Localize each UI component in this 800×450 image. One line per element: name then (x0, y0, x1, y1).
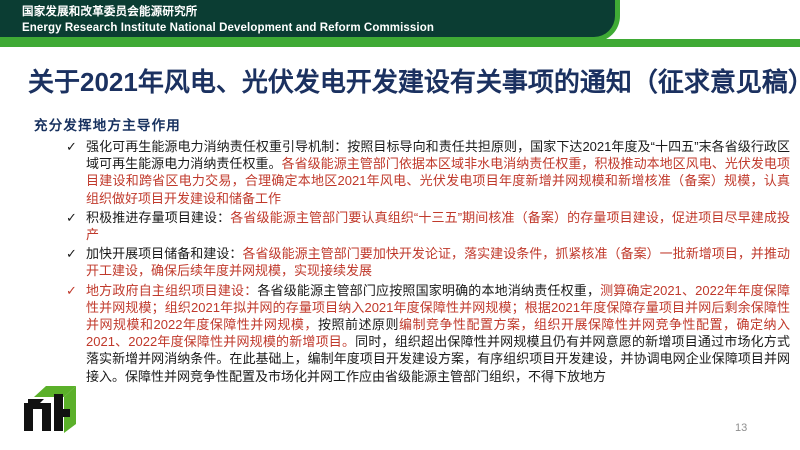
eri-logo (18, 383, 80, 435)
bullet-text-segment: 加快开展项目储备和建设： (86, 246, 242, 261)
bullet-item: ✓加快开展项目储备和建设：各省级能源主管部门要加快开发论证，落实建设条件，抓紧核… (64, 245, 790, 279)
bullet-text-segment: 地方政府自主组织项目建设： (86, 283, 257, 298)
checkmark-icon: ✓ (64, 245, 86, 262)
bullet-text: 积极推进存量项目建设：各省级能源主管部门要认真组织“十三五”期间核准（备案）的存… (86, 209, 790, 243)
bullet-text: 加快开展项目储备和建设：各省级能源主管部门要加快开发论证，落实建设条件，抓紧核准… (86, 245, 790, 279)
bullet-text: 地方政府自主组织项目建设：各省级能源主管部门应按照国家明确的本地消纳责任权重，测… (86, 282, 790, 385)
checkmark-icon: ✓ (64, 282, 86, 299)
bullet-text-segment: 按照前述原则 (318, 317, 399, 332)
page-number: 13 (735, 422, 747, 434)
header-org-block: 国家发展和改革委员会能源研究所 Energy Research Institut… (22, 5, 434, 36)
bullet-item: ✓积极推进存量项目建设：各省级能源主管部门要认真组织“十三五”期间核准（备案）的… (64, 209, 790, 243)
org-name-en: Energy Research Institute National Devel… (22, 20, 434, 36)
bullet-text-segment: 积极推进存量项目建设： (86, 210, 230, 225)
section-subtitle: 充分发挥地方主导作用 (34, 114, 181, 134)
bullet-text-segment: 各省级能源主管部门应按照国家明确的本地消纳责任权重， (257, 283, 600, 298)
bullet-item: ✓强化可再生能源电力消纳责任权重引导机制：按照目标导向和责任共担原则，国家下达2… (64, 138, 790, 207)
bullet-item: ✓地方政府自主组织项目建设：各省级能源主管部门应按照国家明确的本地消纳责任权重，… (64, 282, 790, 385)
bullet-text: 强化可再生能源电力消纳责任权重引导机制：按照目标导向和责任共担原则，国家下达20… (86, 138, 790, 207)
checkmark-icon: ✓ (64, 209, 86, 226)
checkmark-icon: ✓ (64, 138, 86, 155)
org-name-cn: 国家发展和改革委员会能源研究所 (22, 5, 434, 20)
bullet-list: ✓强化可再生能源电力消纳责任权重引导机制：按照目标导向和责任共担原则，国家下达2… (64, 138, 790, 387)
page-title: 关于2021年风电、光伏发电开发建设有关事项的通知（征求意见稿） (28, 62, 800, 99)
